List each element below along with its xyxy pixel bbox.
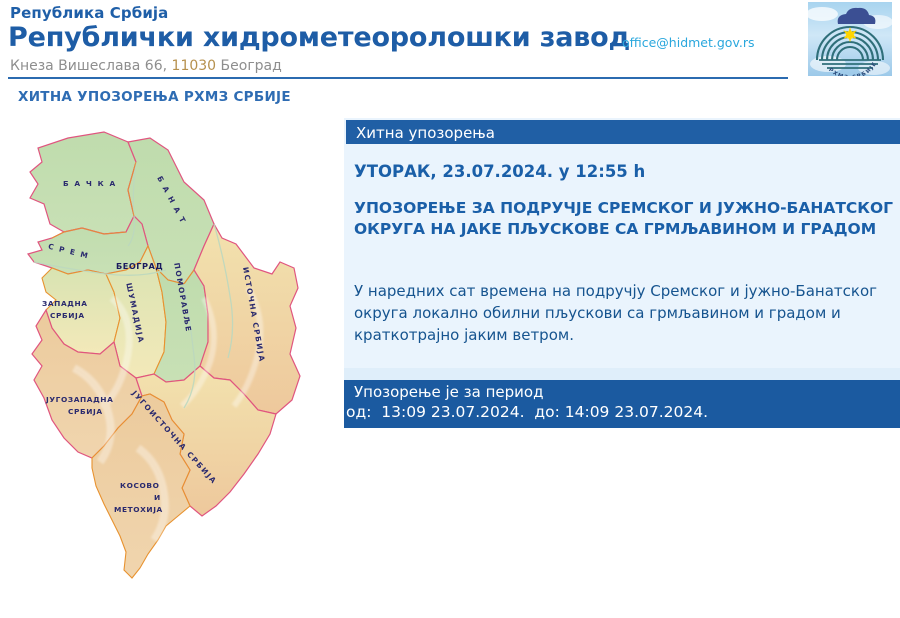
section-heading: ХИТНА УПОЗОРЕЊА РХМЗ СРБИЈЕ	[18, 89, 291, 105]
emergency-warning-panel: Хитна упозорења УТОРАК, 23.07.2024. у 12…	[344, 118, 900, 443]
header-divider	[8, 77, 788, 79]
address-city: Београд	[221, 58, 282, 74]
warning-body-text: У наредних сат времена на подручју Сремс…	[354, 280, 899, 346]
organization-subtitle: Република Србија	[10, 4, 168, 22]
address-zip: 11030	[172, 58, 217, 74]
serbia-map-svg[interactable]: Б А Ч К А Б А Н А Т С Р Е М БЕОГРАД ЗАПА…	[8, 128, 338, 593]
panel-background	[344, 118, 900, 388]
map-label-i: И	[154, 493, 161, 502]
panel-titlebar: Хитна упозорења	[346, 120, 900, 144]
map-label-backa: Б А Ч К А	[63, 179, 117, 188]
map-label-jugozapadna-srbija-2: СРБИЈА	[68, 407, 103, 416]
validity-period-range: од: 13:09 23.07.2024. до: 14:09 23.07.20…	[346, 403, 708, 421]
page-header: Република Србија Републички хидрометеоро…	[0, 0, 900, 88]
issue-datetime: УТОРАК, 23.07.2024. у 12:55 h	[354, 162, 645, 181]
map-label-kosovo: КОСОВО	[120, 481, 160, 490]
map-label-beograd: БЕОГРАД	[116, 261, 163, 271]
panel-title-text: Хитна упозорења	[356, 124, 495, 142]
organization-address: Кнеза Вишеслава 66, 11030 Београд	[10, 58, 282, 74]
contact-email-link[interactable]: office@hidmet.gov.rs	[622, 35, 755, 50]
panel-spacer	[344, 368, 900, 380]
address-street: Кнеза Вишеслава 66,	[10, 58, 167, 74]
serbia-region-map[interactable]: Б А Ч К А Б А Н А Т С Р Е М БЕОГРАД ЗАПА…	[8, 128, 338, 593]
map-label-jugozapadna-srbija-1: ЈУГОЗАПАДНА	[45, 395, 113, 404]
map-label-zapadna-srbija-1: ЗАПАДНА	[42, 299, 88, 308]
validity-period-block: Упозорење је за период од: 13:09 23.07.2…	[344, 380, 900, 428]
organization-title: Републички хидрометеоролошки завод	[8, 22, 630, 53]
map-label-zapadna-srbija-2: СРБИЈА	[50, 311, 85, 320]
map-label-metohija: МЕТОХИЈА	[114, 505, 163, 514]
warning-title: УПОЗОРЕЊЕ ЗА ПОДРУЧЈЕ СРЕМСКОГ И ЈУЖНО-Б…	[354, 198, 894, 240]
rhmz-logo-svg: РХМЗ СРБИЈЕ	[808, 2, 892, 76]
validity-period-label: Упозорење је за период	[354, 383, 543, 401]
rhmz-logo: РХМЗ СРБИЈЕ	[808, 2, 892, 76]
